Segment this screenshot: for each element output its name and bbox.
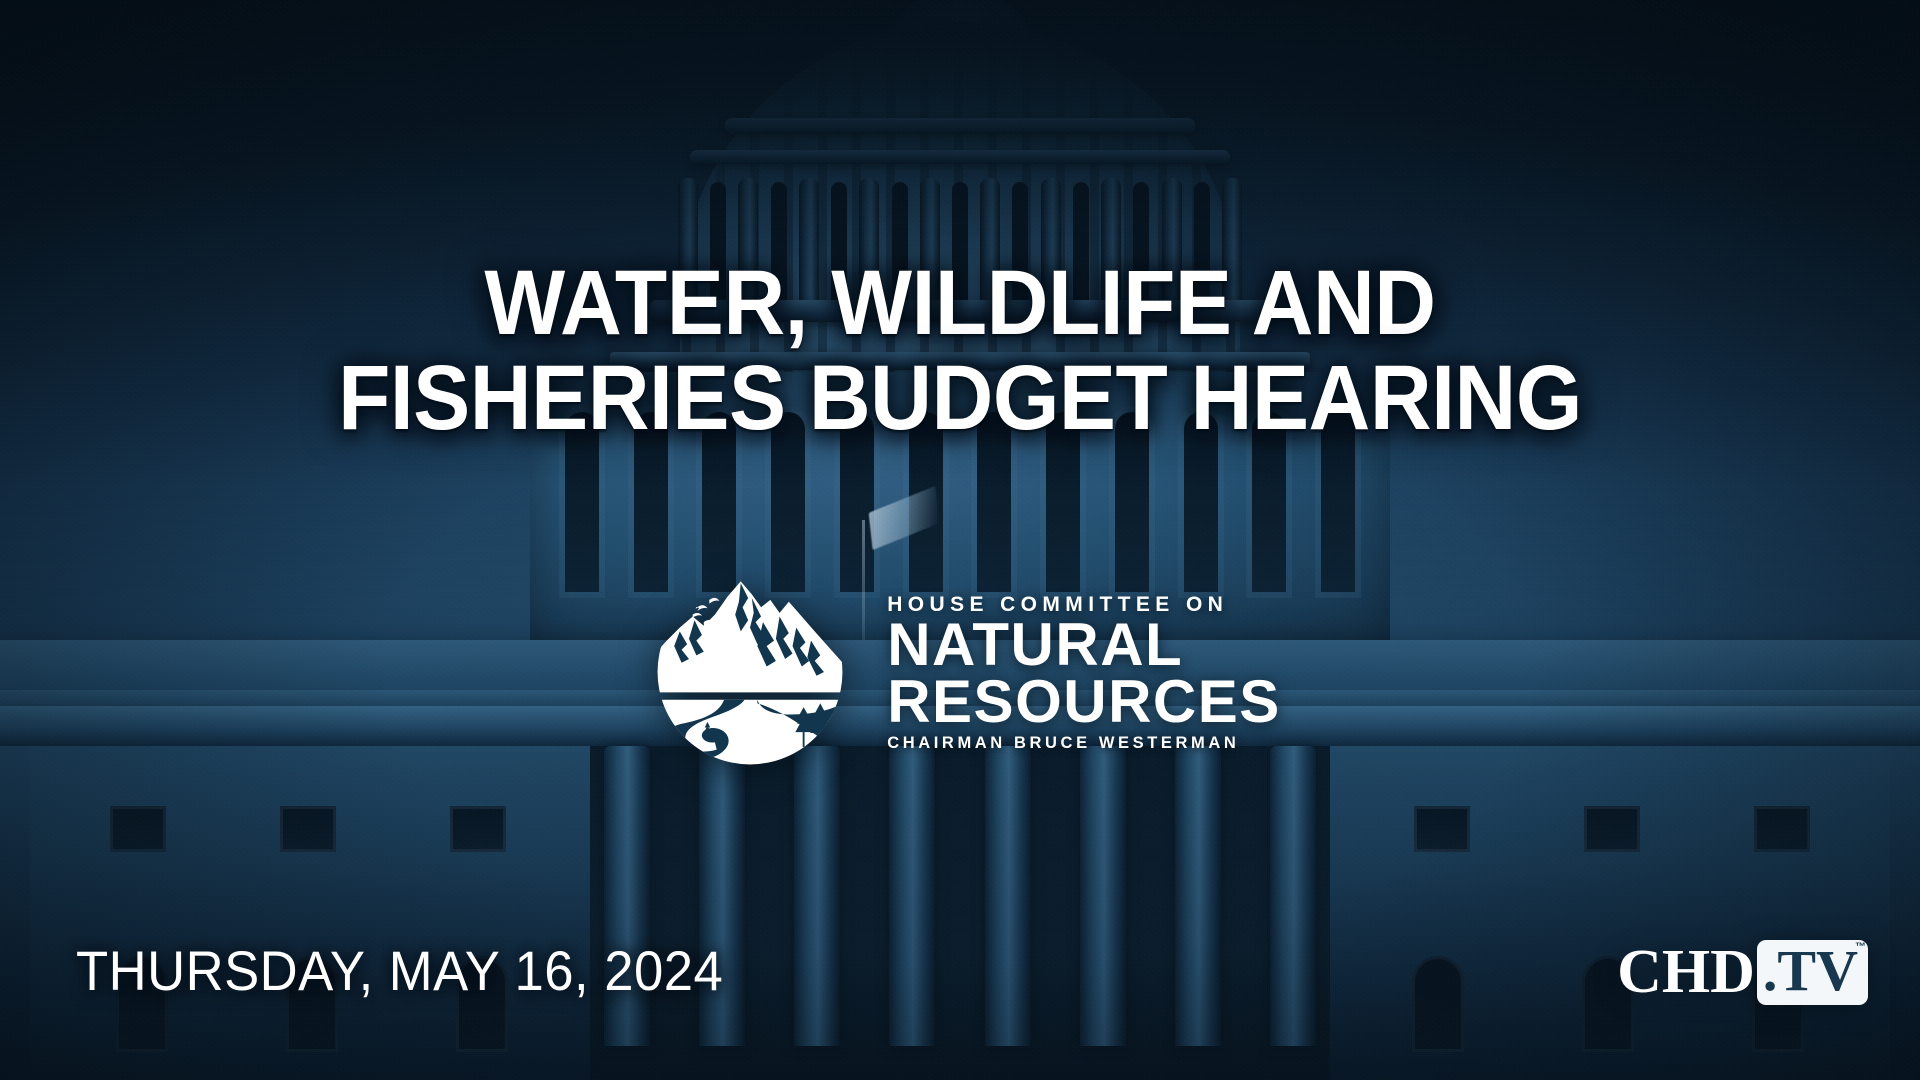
- chdtv-logo-suffix: .TV: [1763, 941, 1858, 1002]
- hearing-title-line-2: FISHERIES BUDGET HEARING: [67, 353, 1853, 444]
- committee-name-line-2: RESOURCES: [887, 674, 1281, 730]
- committee-chairman: CHAIRMAN BRUCE WESTERMAN: [887, 734, 1281, 753]
- chdtv-logo-word: CHD: [1617, 941, 1755, 1003]
- chdtv-network-logo: CHD .TV ™: [1617, 940, 1868, 1005]
- chdtv-logo-tv-badge: .TV ™: [1757, 940, 1868, 1005]
- trademark-symbol: ™: [1855, 941, 1866, 953]
- hearing-date: THURSDAY, MAY 16, 2024: [76, 938, 723, 1003]
- broadcast-title-card: WATER, WILDLIFE AND FISHERIES BUDGET HEA…: [0, 0, 1920, 1080]
- hearing-title-line-1: WATER, WILDLIFE AND: [67, 258, 1853, 349]
- committee-logo-lockup: HOUSE COMMITTEE ON NATURAL RESOURCES CHA…: [0, 574, 1920, 770]
- committee-name-line-1: NATURAL: [887, 617, 1281, 673]
- mountain-river-circle-icon: [639, 574, 861, 770]
- committee-name-block: HOUSE COMMITTEE ON NATURAL RESOURCES CHA…: [887, 593, 1281, 753]
- hearing-title: WATER, WILDLIFE AND FISHERIES BUDGET HEA…: [0, 258, 1920, 444]
